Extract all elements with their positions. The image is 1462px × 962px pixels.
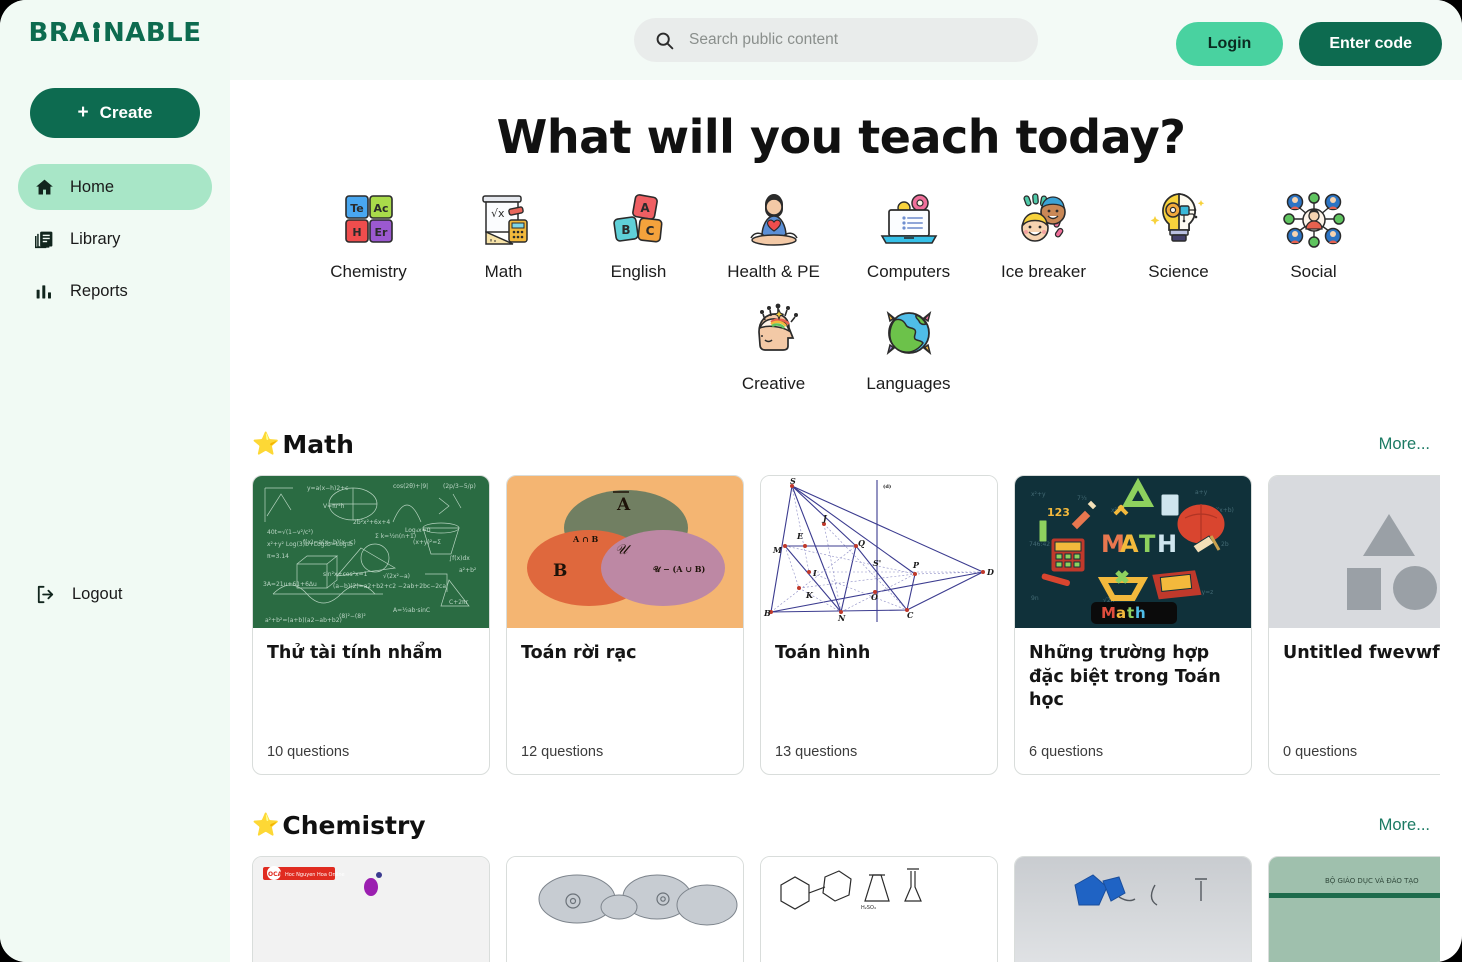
svg-text:S': S' — [873, 558, 881, 568]
svg-text:S: S — [790, 476, 796, 486]
card-question-count: 0 questions — [1269, 744, 1440, 774]
svg-text:V=πr²h: V=πr²h — [323, 503, 345, 510]
category-chemistry[interactable]: TeAc HEr Chemistry — [301, 186, 436, 282]
plus-icon: + — [77, 102, 88, 124]
category-math-label: Math — [485, 262, 523, 282]
creative-icon — [741, 302, 807, 364]
main-area: Login Enter code What will you teach tod… — [230, 0, 1462, 962]
svg-text:2b²x²+6x+4: 2b²x²+6x+4 — [353, 519, 390, 526]
card-thumbnail: BỘ GIÁO DỤC VÀ ĐÀO TẠO — [1269, 857, 1440, 962]
category-social-label: Social — [1290, 262, 1336, 282]
svg-text:(d): (d) — [883, 483, 891, 490]
svg-text:O: O — [871, 592, 878, 602]
svg-text:40t=√(1−v²/c²): 40t=√(1−v²/c²) — [267, 529, 313, 536]
svg-text:√(2x²−a): √(2x²−a) — [383, 573, 410, 580]
svg-text:T: T — [1139, 530, 1156, 558]
category-languages-label: Languages — [866, 374, 950, 394]
svg-text:(a−b)(2)=a2+b2+c2 −2ab+2bc−2ca: (a−b)(2)=a2+b2+c2 −2ab+2bc−2ca — [333, 583, 446, 590]
sidebar-item-home[interactable]: Home — [18, 164, 212, 210]
page-title: What will you teach today? — [242, 110, 1440, 164]
section-math-header: ⭐ Math More... — [242, 430, 1440, 459]
sidebar-item-library[interactable]: Library — [18, 216, 212, 262]
svg-text:B: B — [553, 561, 567, 581]
sidebar-nav: Home Library — [0, 164, 230, 320]
category-ice-breaker[interactable]: Ice breaker — [976, 186, 1111, 282]
social-icon — [1281, 190, 1347, 252]
svg-text:H₂SO₄: H₂SO₄ — [861, 905, 876, 911]
svg-text:(2p/3−5/p): (2p/3−5/p) — [443, 483, 476, 490]
category-science-label: Science — [1148, 262, 1208, 282]
brand-logo-text-before: BRA — [29, 18, 90, 48]
card-thu-tai-tinh-nham[interactable]: y=a(x−h)2+ccos(2θ)+|9|(2p/3−5/p) V=πr²h4… — [252, 475, 490, 775]
section-chemistry-header: ⭐ Chemistry More... — [242, 811, 1440, 840]
section-math-more-link[interactable]: More... — [1379, 435, 1440, 454]
category-english-label: English — [611, 262, 667, 282]
enter-code-button[interactable]: Enter code — [1299, 22, 1442, 66]
svg-text:E: E — [796, 531, 804, 541]
search-input[interactable] — [689, 31, 1018, 49]
languages-icon — [876, 302, 942, 364]
card-toan-roi-rac[interactable]: A A ∩ B 𝒰 B 𝒰 − (A ∪ B) Toán rời rạ — [506, 475, 744, 775]
card-question-count: 6 questions — [1015, 744, 1251, 774]
svg-text:2b: 2b — [1221, 541, 1229, 548]
svg-text:A: A — [616, 495, 631, 515]
svg-text:a+y: a+y — [1195, 489, 1208, 496]
category-science[interactable]: Science — [1111, 186, 1246, 282]
section-math: ⭐ Math More... — [242, 430, 1440, 775]
logout-label: Logout — [72, 585, 122, 604]
card-question-count: 10 questions — [253, 744, 489, 774]
science-icon — [1146, 190, 1212, 252]
brand-logo[interactable]: BRANABLE — [0, 0, 230, 48]
svg-text:Hoc Nguyen Hoa Online: Hoc Nguyen Hoa Online — [285, 872, 345, 878]
svg-text:P: P — [912, 560, 920, 570]
card-thumbnail: A A ∩ B 𝒰 B 𝒰 − (A ∪ B) — [507, 476, 743, 628]
category-health-pe-label: Health & PE — [727, 262, 820, 282]
content-scroll[interactable]: What will you teach today? TeAc — [230, 80, 1462, 962]
section-chemistry-card-row: OCA Hoc Nguyen Hoa Online — [242, 856, 1440, 962]
category-computers-label: Computers — [867, 262, 950, 282]
svg-text:BỘ GIÁO DỤC VÀ ĐÀO TẠO: BỘ GIÁO DỤC VÀ ĐÀO TẠO — [1325, 876, 1419, 885]
category-computers[interactable]: Computers — [841, 186, 976, 282]
card-chem-5[interactable]: BỘ GIÁO DỤC VÀ ĐÀO TẠO — [1268, 856, 1440, 962]
svg-text:f(x)=a(x−b)(x−c): f(x)=a(x−b)(x−c) — [303, 539, 356, 546]
svg-text:H: H — [352, 226, 361, 239]
card-chem-4[interactable] — [1014, 856, 1252, 962]
card-thumbnail — [1269, 476, 1440, 628]
card-thumbnail — [507, 857, 743, 962]
svg-text:123: 123 — [1047, 506, 1070, 519]
svg-text:π≈3.14: π≈3.14 — [267, 553, 289, 560]
top-bar: Login Enter code — [230, 0, 1462, 80]
svg-text:7⅓: 7⅓ — [1077, 495, 1087, 502]
computers-icon — [876, 190, 942, 252]
search-box[interactable] — [634, 18, 1038, 62]
card-body: Toán rời rạc — [507, 628, 743, 744]
svg-text:B: B — [763, 608, 771, 618]
svg-text:A: A — [640, 201, 650, 215]
card-chem-2[interactable] — [506, 856, 744, 962]
reports-icon — [34, 281, 60, 302]
create-button[interactable]: + Create — [30, 88, 200, 138]
svg-text:a²+b²=(a+b)(a2−ab+b2): a²+b²=(a+b)(a2−ab+b2) — [265, 617, 342, 624]
svg-text:√x: √x — [491, 207, 505, 220]
section-math-title-text: Math — [282, 430, 354, 459]
card-title: Thử tài tính nhẩm — [267, 642, 475, 666]
svg-text:A ∩ B: A ∩ B — [572, 534, 598, 544]
svg-text:C+2πr: C+2πr — [449, 599, 469, 606]
app-window: BRANABLE + Create Home — [0, 0, 1462, 962]
svg-text:H: H — [1157, 530, 1177, 558]
logout-icon — [34, 583, 60, 606]
login-button[interactable]: Login — [1176, 22, 1284, 66]
svg-text:∫f(x)dx: ∫f(x)dx — [449, 555, 470, 562]
svg-text:(x+y)²=Σ: (x+y)²=Σ — [413, 539, 441, 546]
card-body: Thử tài tính nhẩm — [253, 628, 489, 744]
svg-text:C: C — [645, 224, 654, 238]
svg-text:Q: Q — [858, 538, 865, 548]
section-math-card-row: y=a(x−h)2+ccos(2θ)+|9|(2p/3−5/p) V=πr²h4… — [242, 475, 1440, 775]
sidebar-item-home-label: Home — [70, 178, 114, 197]
brand-logo-text-after: NABLE — [103, 18, 202, 48]
health-pe-icon — [741, 190, 807, 252]
card-thumbnail — [1015, 857, 1251, 962]
card-title: Những trường hợp đặc biệt trong Toán học — [1029, 642, 1237, 713]
logout-button[interactable]: Logout — [0, 571, 230, 617]
svg-text:I: I — [812, 568, 817, 578]
svg-text:x²+y: x²+y — [1031, 491, 1046, 498]
card-title: Toán rời rạc — [521, 642, 729, 666]
card-thumbnail: SBC DMQ NIK JS'O EP (d) — [761, 476, 997, 628]
math-icon: √x — [471, 190, 537, 252]
svg-text:9n: 9n — [1031, 595, 1039, 602]
svg-text:Te: Te — [350, 202, 364, 215]
topbar-actions: Login Enter code — [1176, 22, 1442, 66]
create-button-label: Create — [100, 103, 153, 123]
card-question-count: 13 questions — [761, 744, 997, 774]
card-body: Những trường hợp đặc biệt trong Toán học — [1015, 628, 1251, 744]
star-icon: ⭐ — [252, 432, 279, 457]
svg-text:cos(2θ)+|9|: cos(2θ)+|9| — [393, 483, 428, 490]
card-thumbnail: H₂SO₄ — [761, 857, 997, 962]
card-title: Toán hình — [775, 642, 983, 666]
svg-text:K: K — [805, 590, 814, 600]
card-body: Toán hình — [761, 628, 997, 744]
svg-text:t: t — [1127, 604, 1134, 622]
category-row-2: Creative — [242, 298, 1440, 394]
card-untitled[interactable]: Untitled fwevwfe 0 questions — [1268, 475, 1440, 775]
card-thumbnail: x²+y a+y √(x+b) 746:42 2b 9n √2π x+y=z x… — [1015, 476, 1251, 628]
svg-text:B: B — [621, 223, 630, 237]
category-english[interactable]: ABC English — [571, 186, 706, 282]
sidebar-item-library-label: Library — [70, 230, 120, 249]
card-thumbnail: y=a(x−h)2+ccos(2θ)+|9|(2p/3−5/p) V=πr²h4… — [253, 476, 489, 628]
category-chemistry-label: Chemistry — [330, 262, 407, 282]
svg-text:Σ k=½n(n+1): Σ k=½n(n+1) — [375, 533, 416, 540]
brand-person-icon — [90, 20, 103, 46]
card-body: Untitled fwevwfe — [1269, 628, 1440, 744]
category-creative[interactable]: Creative — [706, 298, 841, 394]
ice-breaker-icon — [1011, 190, 1077, 252]
chemistry-icon: TeAc HEr — [336, 190, 402, 252]
section-chemistry: ⭐ Chemistry More... OCA H — [242, 811, 1440, 962]
sidebar-spacer — [0, 320, 230, 571]
section-chemistry-title-text: Chemistry — [282, 811, 425, 840]
svg-text:D: D — [986, 567, 994, 577]
category-row-1: TeAc HEr Chemistry √x — [242, 186, 1440, 282]
svg-text:y=a(x−h)2+c: y=a(x−h)2+c — [307, 485, 348, 492]
section-chemistry-more-link[interactable]: More... — [1379, 816, 1440, 835]
category-health-pe[interactable]: Health & PE — [706, 186, 841, 282]
card-toan-hinh[interactable]: SBC DMQ NIK JS'O EP (d) Toán hình — [760, 475, 998, 775]
card-chem-1[interactable]: OCA Hoc Nguyen Hoa Online — [252, 856, 490, 962]
svg-text:h: h — [1135, 604, 1146, 622]
sidebar-item-reports[interactable]: Reports — [18, 268, 212, 314]
category-creative-label: Creative — [742, 374, 805, 394]
star-icon: ⭐ — [252, 813, 279, 838]
svg-text:a: a — [1116, 604, 1126, 622]
category-languages[interactable]: Languages — [841, 298, 976, 394]
svg-text:A: A — [1120, 530, 1139, 558]
svg-text:M: M — [1101, 604, 1116, 622]
svg-text:OCA: OCA — [268, 871, 283, 878]
search-icon — [654, 30, 675, 51]
sidebar-item-reports-label: Reports — [70, 282, 128, 301]
category-social[interactable]: Social — [1246, 186, 1381, 282]
sidebar: BRANABLE + Create Home — [0, 0, 230, 962]
svg-text:Ac: Ac — [373, 202, 388, 215]
svg-text:(8)²−(8)²: (8)²−(8)² — [339, 613, 366, 620]
svg-text:N: N — [837, 613, 846, 623]
home-icon — [34, 177, 60, 198]
category-math[interactable]: √x Math — [436, 186, 571, 282]
english-icon: ABC — [606, 190, 672, 252]
svg-text:a²+b²: a²+b² — [459, 567, 477, 574]
library-icon — [34, 229, 60, 250]
category-ice-breaker-label: Ice breaker — [1001, 262, 1086, 282]
svg-text:Er: Er — [374, 226, 388, 239]
card-chem-3[interactable]: H₂SO₄ — [760, 856, 998, 962]
svg-text:M: M — [772, 545, 783, 555]
svg-text:C: C — [907, 610, 914, 620]
card-title: Untitled fwevwfe — [1283, 642, 1440, 666]
card-nhung-truong-hop[interactable]: x²+y a+y √(x+b) 746:42 2b 9n √2π x+y=z x… — [1014, 475, 1252, 775]
svg-text:sin²x+cos²x=1: sin²x+cos²x=1 — [323, 571, 368, 578]
svg-text:3A=21u+61+6Δu: 3A=21u+61+6Δu — [263, 581, 317, 588]
svg-text:A=½ab·sinC: A=½ab·sinC — [393, 607, 430, 614]
card-question-count: 12 questions — [507, 744, 743, 774]
svg-text:𝒰 − (A ∪ B): 𝒰 − (A ∪ B) — [653, 564, 706, 574]
card-thumbnail: OCA Hoc Nguyen Hoa Online — [253, 857, 489, 962]
section-math-title: ⭐ Math — [252, 430, 354, 459]
section-chemistry-title: ⭐ Chemistry — [252, 811, 426, 840]
